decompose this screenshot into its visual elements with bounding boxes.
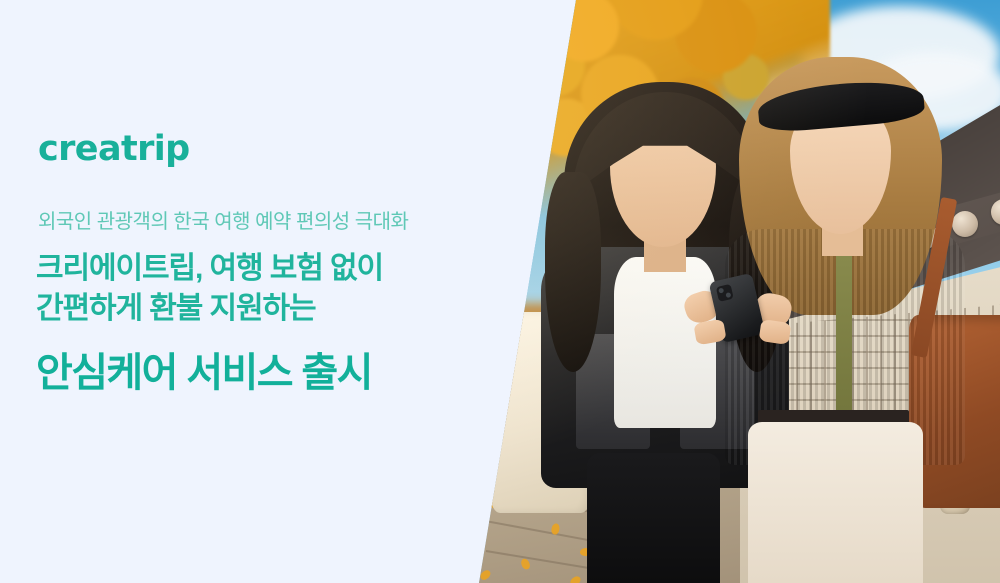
headline-line-2: 간편하게 환불 지원하는 [36,289,315,329]
text-panel: creatrip 외국인 관광객의 한국 여행 예약 편의성 극대화 크리에이트… [0,0,520,583]
phone-camera [716,284,734,302]
fingers [759,319,792,345]
headline-emphasis: 안심케어 서비스 출시 [36,349,372,397]
eyebrow-text: 외국인 관광객의 한국 여행 예약 편의성 극대화 [38,209,408,235]
black-pants [587,453,720,583]
headline-line-1: 크리에이트립, 여행 보험 없이 [36,249,383,289]
camera-lens [718,288,724,294]
camera-lens [725,292,731,298]
creatrip-logo[interactable]: creatrip [38,132,190,167]
ivory-pants [748,422,923,583]
promo-banner: creatrip 외국인 관광객의 한국 여행 예약 편의성 극대화 크리에이트… [0,0,1000,583]
hair-curl [545,172,600,373]
roof-tile [991,199,1000,225]
